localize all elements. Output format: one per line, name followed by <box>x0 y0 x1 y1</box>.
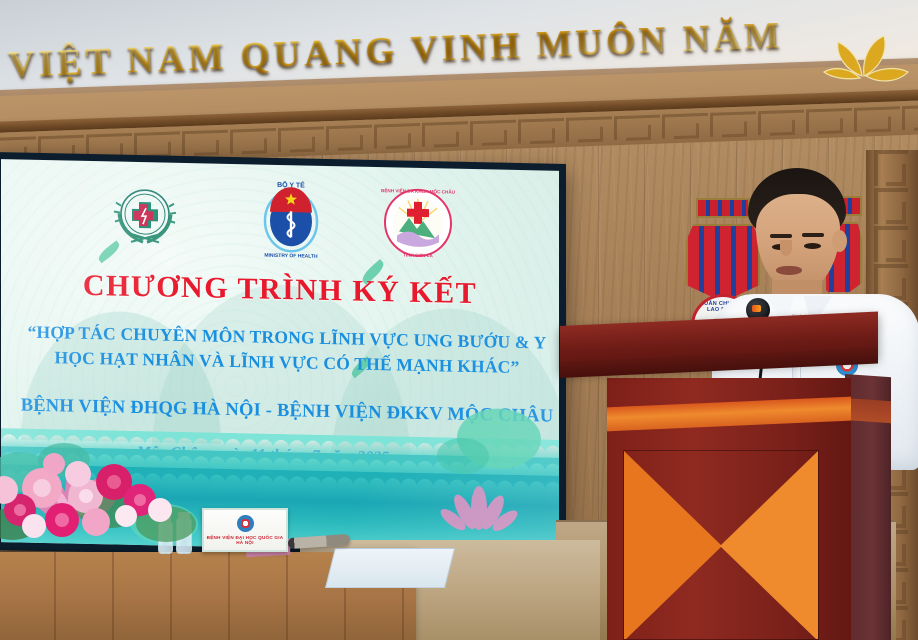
ear <box>832 230 847 252</box>
frieze-motif <box>854 106 900 132</box>
screen-subtitle-line2: NHÂN VÀ LĨNH VỰC CÓ THẾ MẠNH KHÁC” <box>142 349 519 377</box>
frieze-motif <box>662 113 708 139</box>
frieze-motif <box>806 108 852 134</box>
ministry-of-health-logo: BỘ Y TẾ MINISTRY OF HEALTH <box>253 180 329 260</box>
podium-inlay-panel <box>623 450 819 640</box>
mouth <box>776 266 802 275</box>
nose <box>780 240 792 256</box>
frieze-motif <box>134 131 180 157</box>
frieze-motif <box>710 111 756 137</box>
wooden-podium <box>560 326 890 640</box>
screen-logo-row: BỘ Y TẾ MINISTRY OF HEALTH BỆNH VIỆN Đ <box>1 175 559 265</box>
frieze-motif <box>614 115 660 141</box>
lotus-leaf-graphic <box>433 397 553 496</box>
nameplate-logo-icon <box>237 515 254 532</box>
frieze-motif <box>758 110 804 136</box>
conference-room-photo: VIỆT NAM QUANG VINH MUÔN NĂM HUÂN CHƯƠNG… <box>0 0 918 640</box>
ministry-logo-caption-bottom: MINISTRY OF HEALTH <box>264 253 318 260</box>
eye <box>804 243 821 249</box>
frieze-motif <box>326 125 372 151</box>
eyebrow <box>770 234 792 238</box>
frieze-motif <box>278 126 324 152</box>
eyebrow <box>802 233 824 237</box>
frieze-motif <box>902 105 918 131</box>
frieze-motif <box>182 130 228 156</box>
mocchau-logo-caption-top: BỆNH VIỆN ĐA KHOA MỘC CHÂU <box>381 186 456 195</box>
mocchau-logo-caption-bottom: TỈNH SƠN LA <box>403 252 433 259</box>
frieze-motif <box>422 121 468 147</box>
frieze-motif <box>374 123 420 149</box>
pink-floral-arrangement <box>0 438 220 568</box>
frieze-motif <box>566 116 612 142</box>
document-sheet <box>325 548 455 588</box>
ministry-logo-caption-top: BỘ Y TẾ <box>277 180 305 189</box>
podium-side-accent-band <box>845 398 891 423</box>
podium-inlay-triangle-left <box>624 451 722 640</box>
frieze-motif <box>230 128 276 154</box>
frieze-motif <box>518 118 564 144</box>
face <box>756 194 840 292</box>
microphone-indicator <box>752 305 761 312</box>
frieze-motif <box>470 120 516 146</box>
moc-chau-hospital-logo: BỆNH VIỆN ĐA KHOA MỘC CHÂU TỈNH SƠN LA <box>379 183 457 263</box>
hospital-wreath-logo <box>109 179 181 253</box>
flower-bouquet-graphic <box>0 438 220 568</box>
podium-front <box>607 378 851 640</box>
podium-inlay-triangle-right <box>720 451 818 640</box>
podium-accent-band <box>607 397 851 432</box>
